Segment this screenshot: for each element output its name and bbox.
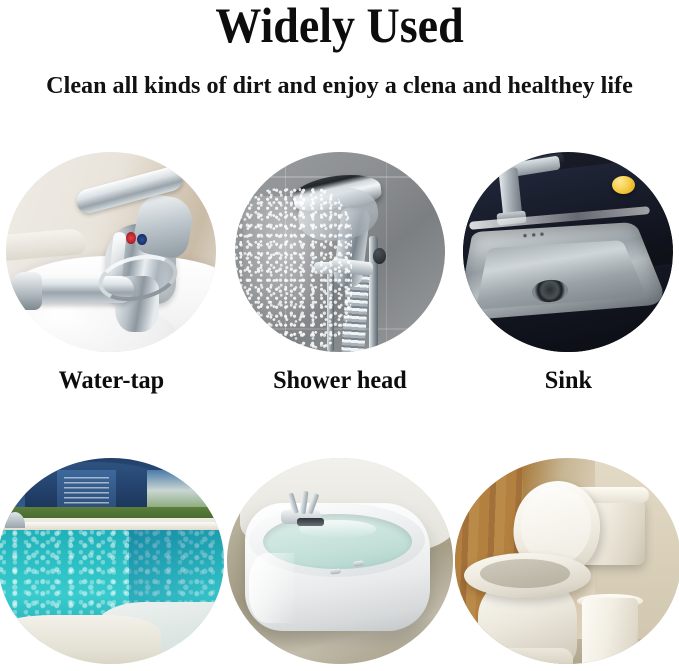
water-spray (235, 188, 353, 352)
shower-scene (235, 152, 445, 352)
use-case-sink: Sink (460, 152, 676, 396)
rail-knob (373, 248, 386, 264)
use-case-row: Water-tap (0, 152, 679, 396)
toilet-photo-icon (455, 458, 679, 664)
hot-indicator-dot (126, 232, 137, 244)
pool-coping (0, 522, 224, 530)
page-subtitle: Clean all kinds of dirt and enjoy a clen… (5, 72, 674, 100)
faucet-scene (6, 152, 216, 352)
faucet-photo-icon (6, 152, 216, 352)
building-louvers (64, 477, 109, 506)
pool-deep-end (129, 530, 224, 612)
swimming-pool-photo-icon (0, 458, 224, 664)
lemon (612, 176, 635, 194)
sink-scene (463, 152, 673, 352)
tub-side-highlight (249, 553, 294, 623)
toilet-seat-opening (480, 559, 570, 588)
widely-used-infographic: Widely Used Clean all kinds of dirt and … (0, 0, 679, 671)
bathtub-photo-icon (227, 458, 453, 664)
toilet-base (482, 648, 572, 664)
use-case-swimming-pool: Swimming pool (3, 458, 219, 671)
sink-photo-icon (463, 152, 673, 352)
use-case-row: Swimming pool (0, 458, 679, 671)
use-case-tub: Tub (232, 458, 448, 671)
pool-scene (0, 458, 224, 664)
background-structure (147, 470, 215, 507)
use-case-grid: Water-tap (0, 152, 679, 671)
use-case-label-shower-head: Shower head (273, 366, 407, 396)
tile-grout-line (386, 152, 388, 352)
page-title: Widely Used (27, 0, 652, 52)
tub-spout (297, 518, 324, 526)
cold-indicator-dot (137, 234, 146, 245)
header: Widely Used Clean all kinds of dirt and … (0, 0, 679, 100)
shower-head-photo-icon (235, 152, 445, 352)
toilet-scene (455, 458, 679, 664)
waste-bin (582, 598, 639, 664)
pool-step-near (0, 615, 161, 664)
tub-scene (227, 458, 453, 664)
use-case-toilet: Toilet (460, 458, 676, 671)
faucet-spout-tip (8, 272, 42, 310)
use-case-shower-head: Shower head (232, 152, 448, 396)
use-case-label-sink: Sink (544, 366, 591, 396)
use-case-water-tap: Water-tap (3, 152, 219, 396)
use-case-label-water-tap: Water-tap (58, 366, 164, 396)
